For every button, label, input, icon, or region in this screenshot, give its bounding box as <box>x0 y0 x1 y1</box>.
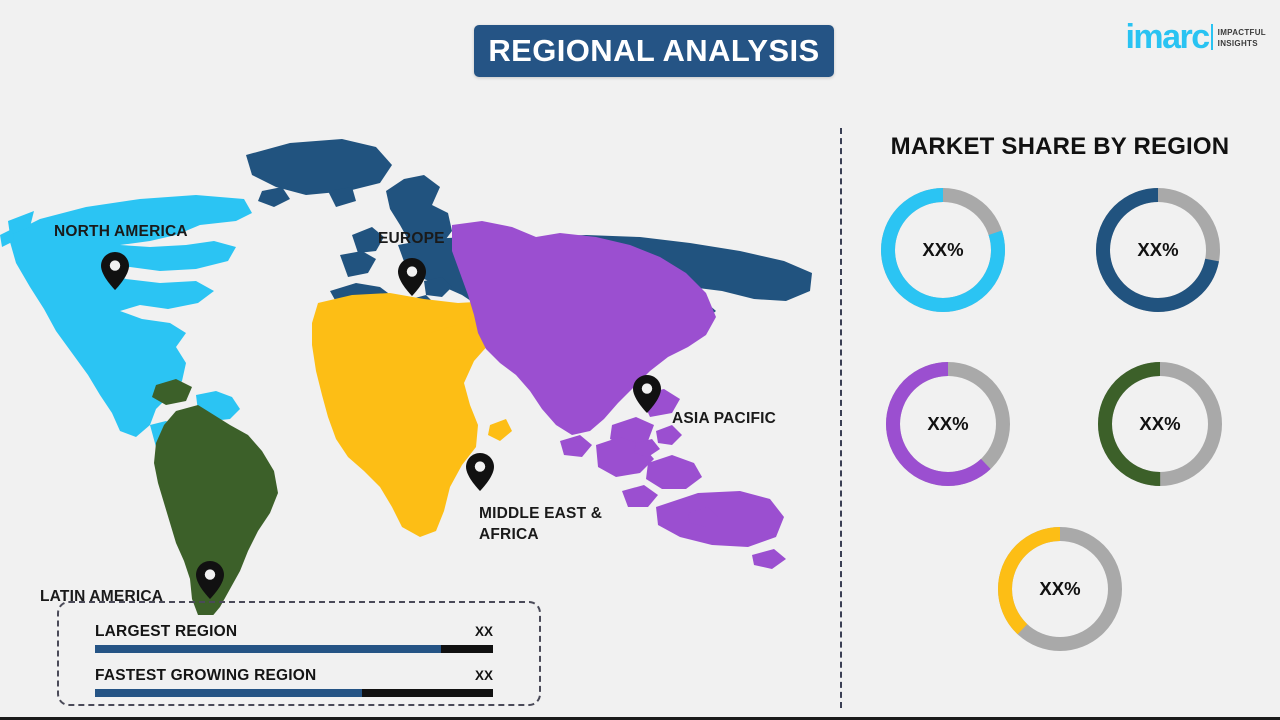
location-pin-icon[interactable] <box>466 453 494 491</box>
market-share-title: MARKET SHARE BY REGION <box>840 133 1280 161</box>
donut-value-label: XX% <box>1096 188 1220 312</box>
donut-chart-north-america: XX% <box>881 188 1005 312</box>
donut-chart-asia-pacific: XX% <box>886 362 1010 486</box>
legend-progress-track <box>95 689 493 697</box>
section-divider <box>840 128 842 708</box>
map-label-europe: EUROPE <box>378 228 445 249</box>
world-map: NORTH AMERICA EUROPE ASIA PACIFIC MIDDLE… <box>0 95 820 615</box>
legend-value: XX <box>475 668 493 683</box>
legend-row-largest-region: LARGEST REGION XX <box>95 623 493 653</box>
brand-logo-divider <box>1211 24 1213 50</box>
legend-row-fastest-growing-region: FASTEST GROWING REGION XX <box>95 667 493 697</box>
brand-logo-wordmark: imarc <box>1125 22 1208 52</box>
donut-value-label: XX% <box>1098 362 1222 486</box>
brand-tagline-line2: INSIGHTS <box>1218 39 1258 48</box>
brand-logo-tagline: IMPACTFUL INSIGHTS <box>1218 27 1266 52</box>
location-pin-icon[interactable] <box>633 375 661 413</box>
location-pin-icon[interactable] <box>196 561 224 599</box>
infographic-canvas: REGIONAL ANALYSIS imarc IMPACTFUL INSIGH… <box>0 0 1280 720</box>
brand-tagline-line1: IMPACTFUL <box>1218 28 1266 37</box>
page-title: REGIONAL ANALYSIS <box>488 33 819 69</box>
legend-value: XX <box>475 624 493 639</box>
brand-logo: imarc IMPACTFUL INSIGHTS <box>1125 22 1266 52</box>
location-pin-icon[interactable] <box>101 252 129 290</box>
donut-value-label: XX% <box>881 188 1005 312</box>
map-label-north-america: NORTH AMERICA <box>54 221 188 242</box>
legend-progress-track <box>95 645 493 653</box>
donut-chart-europe: XX% <box>1096 188 1220 312</box>
legend-label: LARGEST REGION <box>95 623 237 641</box>
map-label-asia-pacific: ASIA PACIFIC <box>672 408 776 429</box>
legend-progress-fill <box>95 689 362 697</box>
page-title-banner: REGIONAL ANALYSIS <box>474 25 834 77</box>
map-legend-box: LARGEST REGION XX FASTEST GROWING REGION… <box>57 601 541 706</box>
donut-value-label: XX% <box>998 527 1122 651</box>
map-label-middle-east-africa: MIDDLE EAST & AFRICA <box>479 503 602 545</box>
legend-label: FASTEST GROWING REGION <box>95 667 316 685</box>
donut-chart-middle-east-africa: XX% <box>998 527 1122 651</box>
legend-progress-fill <box>95 645 441 653</box>
location-pin-icon[interactable] <box>398 258 426 296</box>
donut-value-label: XX% <box>886 362 1010 486</box>
donut-chart-latin-america: XX% <box>1098 362 1222 486</box>
